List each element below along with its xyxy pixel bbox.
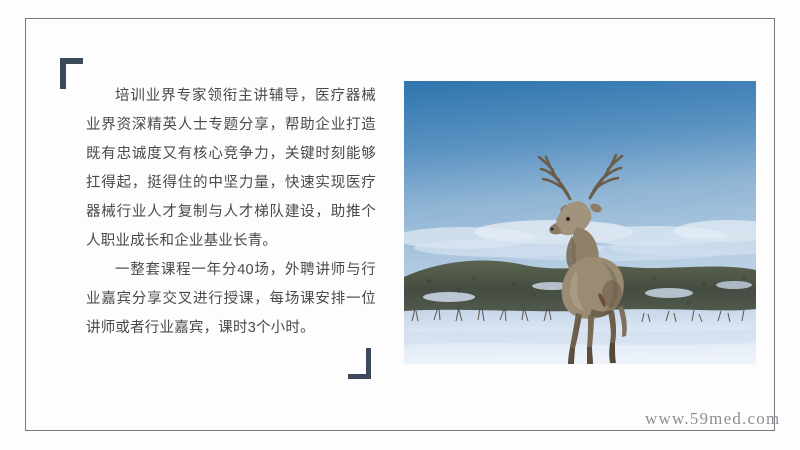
body-copy: 培训业界专家领衔主讲辅导，医疗器械业界资深精英人士专题分享，帮助企业打造既有忠诚… <box>86 82 376 343</box>
paragraph-one: 培训业界专家领衔主讲辅导，医疗器械业界资深精英人士专题分享，帮助企业打造既有忠诚… <box>86 82 376 256</box>
slide-canvas: 培训业界专家领衔主讲辅导，医疗器械业界资深精英人士专题分享，帮助企业打造既有忠诚… <box>0 0 800 450</box>
bracket-horizontal-bar <box>60 58 83 64</box>
bracket-horizontal-bar <box>348 374 371 380</box>
site-watermark: www.59med.com <box>645 409 780 429</box>
deer-photo-illustration <box>404 81 756 364</box>
corner-bracket-top-left-icon <box>60 58 83 89</box>
corner-bracket-bottom-right-icon <box>348 348 371 379</box>
paragraph-two: 一整套课程一年分40场，外聘讲师与行业嘉宾分享交叉进行授课，每场课安排一位讲师或… <box>86 256 376 343</box>
deer-photo <box>404 81 756 364</box>
